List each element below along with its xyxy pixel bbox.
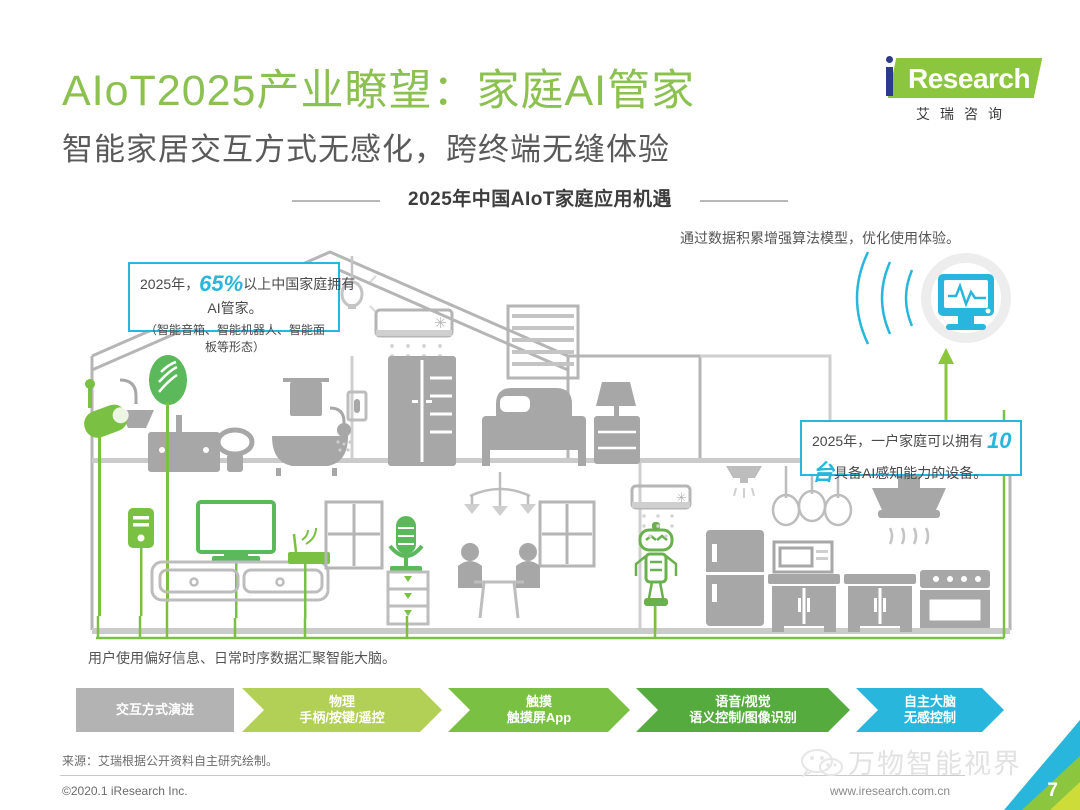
flow-stage-1-top: 物理 (299, 694, 384, 710)
smart-panel (128, 508, 154, 616)
smart-microphone (390, 516, 422, 572)
flow-stage-3-top: 语音/视觉 (689, 694, 797, 710)
logo-chinese-name: 艾瑞咨询 (894, 104, 1034, 124)
flow-stage-2[interactable]: 触摸 触摸屏App (448, 688, 630, 732)
dining-area (458, 472, 676, 630)
copyright-text: ©2020.1 iResearch Inc. (62, 784, 188, 798)
slide-page: AIoT2025产业瞭望：家庭AI管家 智能家居交互方式无感化，跨终端无缝体验 … (0, 0, 1080, 810)
flow-stage-2-bottom: 触摸屏App (507, 710, 571, 726)
wifi-router (288, 528, 330, 618)
callout-left-line3: （智能音箱、智能机器人、智能面板等形态） (140, 321, 330, 355)
flow-stage-0[interactable]: 交互方式演进 (76, 688, 234, 732)
bedroom-furniture: ✳ (328, 256, 640, 466)
flow-stage-4-bottom: 无感控制 (904, 710, 956, 726)
callout-right-pre: 2025年，一户家庭可以拥有 (812, 433, 983, 449)
callout-right-post: 具备AI感知能力的设备。 (834, 465, 987, 481)
flow-stage-4-top: 自主大脑 (904, 694, 956, 710)
interaction-evolution-flow: 交互方式演进 物理 手柄/按键/遥控 触摸 触摸屏App 语音/视觉 语义控制/… (76, 688, 1004, 732)
flow-stage-1-bottom: 手柄/按键/遥控 (299, 710, 384, 726)
logo-i-dot (886, 56, 893, 63)
flow-stage-2-top: 触摸 (507, 694, 571, 710)
callout-left-stat: 65% (199, 271, 243, 296)
monitor-heartbeat-icon (938, 274, 994, 330)
logo-i-stem (886, 67, 893, 96)
wechat-icon (800, 748, 844, 778)
arrow-to-brain (938, 348, 954, 420)
source-note: 来源：艾瑞根据公开资料自主研究绘制。 (62, 752, 278, 769)
callout-left: 2025年，65%以上中国家庭拥有 AI管家。 （智能音箱、智能机器人、智能面板… (128, 262, 340, 332)
page-number: 7 (1047, 780, 1058, 802)
callout-left-post: 以上中国家庭拥有 (243, 276, 355, 292)
flow-stage-3-bottom: 语义控制/图像识别 (689, 710, 797, 726)
svg-text:✳: ✳ (434, 314, 447, 332)
note-bottom-left: 用户使用偏好信息、日常时序数据汇聚智能大脑。 (88, 648, 396, 668)
callout-right-stat: 10 (987, 428, 1011, 453)
svg-text:✳: ✳ (676, 491, 687, 506)
security-camera (80, 379, 132, 616)
iresearch-logo: Research 艾瑞咨询 (864, 54, 1044, 130)
callout-left-line2: AI管家。 (140, 298, 330, 318)
flow-stage-3[interactable]: 语音/视觉 语义控制/图像识别 (636, 688, 850, 732)
page-title: AIoT2025产业瞭望：家庭AI管家 (62, 56, 695, 118)
callout-right-line1: 2025年，一户家庭可以拥有 10 (812, 428, 1012, 454)
note-top-right: 通过数据积累增强算法模型，优化使用体验。 (680, 228, 960, 248)
flow-stage-1[interactable]: 物理 手柄/按键/遥控 (242, 688, 442, 732)
flow-stage-0-top: 交互方式演进 (116, 702, 194, 718)
callout-right-unit: 台 (812, 460, 834, 485)
logo-mark: Research (864, 54, 1044, 102)
logo-wordmark: Research (908, 63, 1030, 95)
ai-brain (857, 252, 1006, 344)
living-room (128, 502, 428, 624)
website-text: www.iresearch.com.cn (830, 784, 950, 798)
page-subtitle: 智能家居交互方式无感化，跨终端无缝体验 (62, 124, 670, 169)
callout-right: 2025年，一户家庭可以拥有 10 台具备AI感知能力的设备。 (800, 420, 1022, 476)
kitchen: ✳ (632, 466, 990, 632)
callout-left-line1: 2025年，65%以上中国家庭拥有 (140, 271, 330, 297)
callout-right-line2: 台具备AI感知能力的设备。 (812, 455, 1012, 487)
section-band-title: 2025年中国AIoT家庭应用机遇 (0, 184, 1080, 211)
callout-left-pre: 2025年， (140, 276, 199, 292)
corner-decoration (960, 720, 1080, 810)
